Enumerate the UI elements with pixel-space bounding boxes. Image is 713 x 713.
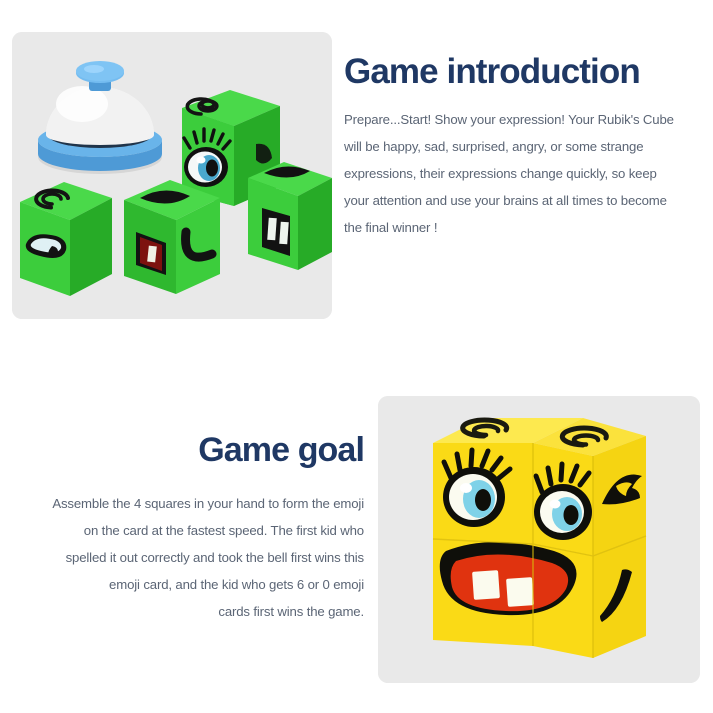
product-photo-yellow-cubes bbox=[378, 396, 700, 683]
green-cube-closed-eye bbox=[20, 182, 112, 296]
body-line: emoji card, and the kid who gets 6 or 0 … bbox=[14, 571, 364, 598]
game-introduction-body: Prepare...Start! Show your expression! Y… bbox=[344, 106, 700, 241]
green-cube-smile-mouth bbox=[124, 180, 220, 294]
body-line: Assemble the 4 squares in your hand to f… bbox=[14, 490, 364, 517]
body-line: the final winner ! bbox=[344, 214, 700, 241]
green-cube-teeth-bar bbox=[248, 162, 332, 270]
yellow-cubes-illustration bbox=[378, 396, 700, 683]
body-line: Prepare...Start! Show your expression! Y… bbox=[344, 106, 700, 133]
yellow-cube-eyebrow bbox=[593, 436, 646, 556]
product-description-page: Game introduction Prepare...Start! Show … bbox=[0, 0, 713, 713]
game-goal-title: Game goal bbox=[14, 430, 364, 470]
body-line: will be happy, sad, surprised, angry, or… bbox=[344, 133, 700, 160]
mouth-glyph bbox=[440, 542, 577, 615]
body-line: cards first wins the game. bbox=[14, 598, 364, 625]
product-photo-green-cubes bbox=[12, 32, 332, 319]
body-line: spelled it out correctly and took the be… bbox=[14, 544, 364, 571]
body-line: expressions, their expressions change qu… bbox=[344, 160, 700, 187]
game-goal-section: Game goal Assemble the 4 squares in your… bbox=[14, 430, 364, 625]
game-introduction-title: Game introduction bbox=[344, 52, 700, 92]
yellow-cube-eye-right bbox=[533, 443, 593, 556]
body-line: on the card at the fastest speed. The fi… bbox=[14, 517, 364, 544]
game-introduction-section: Game introduction Prepare...Start! Show … bbox=[344, 52, 700, 241]
yellow-cube-eye-left bbox=[433, 443, 533, 544]
body-line: your attention and use your brains at al… bbox=[344, 187, 700, 214]
game-goal-body: Assemble the 4 squares in your hand to f… bbox=[14, 490, 364, 625]
green-cubes-illustration bbox=[12, 32, 332, 319]
